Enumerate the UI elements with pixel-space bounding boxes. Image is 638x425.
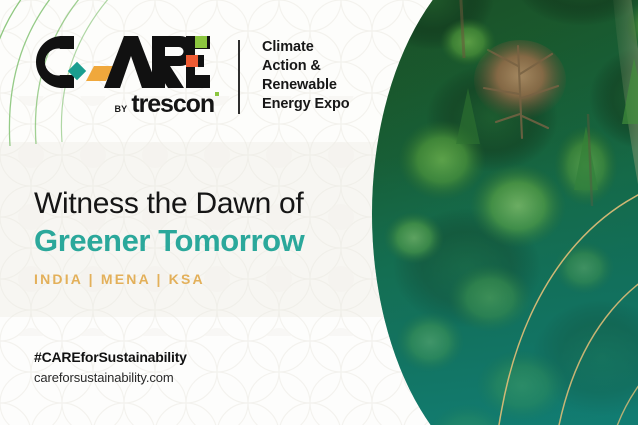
regions-list: INDIA | MENA | KSA [34,271,205,287]
decorative-gold-arcs [372,0,638,425]
header-divider [238,40,240,114]
care-wordmark-icon [34,34,214,90]
headline-line-1: Witness the Dawn of [34,186,304,222]
care-logo: BY trescon [34,34,214,90]
promotional-banner: BY trescon Climate Action & Renewable En… [0,0,638,425]
headline-line-2: Greener Tomorrow [34,222,304,260]
campaign-hashtag: #CAREforSustainability [34,347,187,367]
event-tagline: Climate Action & Renewable Energy Expo [262,34,350,114]
tagline-line-1: Climate [262,38,350,57]
tagline-line-2: Action & [262,57,350,76]
trescon-wordmark: trescon [131,90,214,119]
tagline-line-4: Energy Expo [262,95,350,114]
by-trescon-lockup: BY trescon [114,90,214,119]
headline-block: Witness the Dawn of Greener Tomorrow [34,186,304,260]
forest-photo-ellipse [372,0,638,425]
website-url[interactable]: careforsustainability.com [34,367,187,389]
tagline-line-3: Renewable [262,76,350,95]
brand-header-lockup: BY trescon Climate Action & Renewable En… [34,34,350,114]
by-label: BY [114,104,127,114]
trescon-dot-icon [215,92,219,96]
footer-block: #CAREforSustainability careforsustainabi… [34,347,187,389]
